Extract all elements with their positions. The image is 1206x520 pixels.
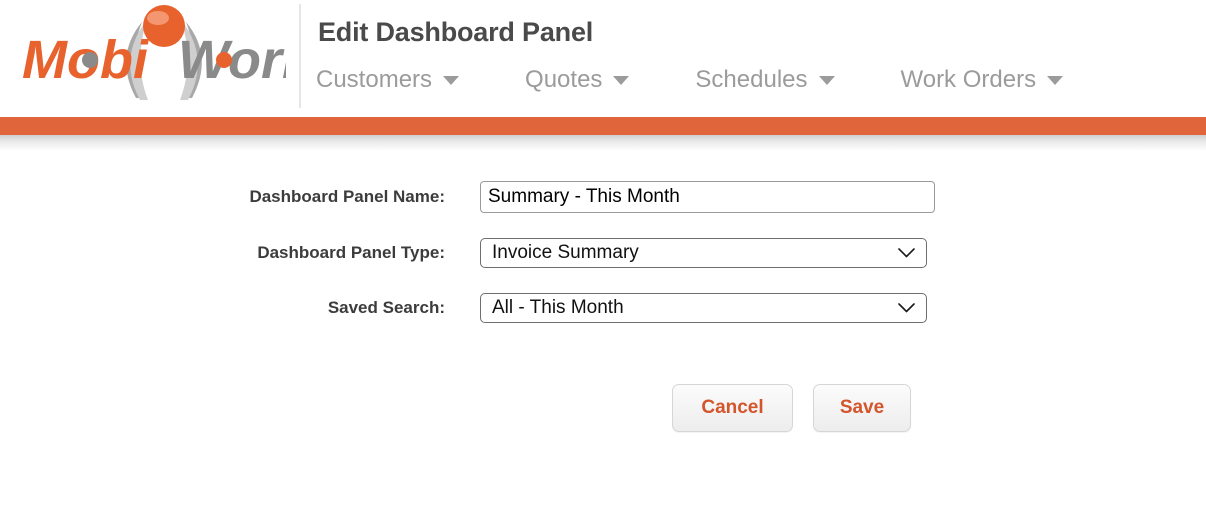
panel-name-label: Dashboard Panel Name: — [0, 187, 480, 207]
form-row-saved-search: Saved Search: All - This Month — [0, 293, 1206, 323]
panel-type-label: Dashboard Panel Type: — [0, 243, 480, 263]
saved-search-value: All - This Month — [481, 297, 624, 319]
chevron-down-icon — [898, 248, 915, 258]
edit-dashboard-panel-page: Mobi Work Edit Dashboard Panel Customers… — [0, 0, 1206, 520]
edit-panel-form: Dashboard Panel Name: Dashboard Panel Ty… — [0, 151, 1206, 432]
chevron-down-icon — [819, 76, 835, 85]
nav-item-label: Schedules — [695, 66, 807, 94]
page-title: Edit Dashboard Panel — [318, 17, 593, 48]
nav-item-quotes[interactable]: Quotes — [525, 66, 629, 94]
panel-type-field-wrap: Invoice Summary — [480, 238, 927, 268]
nav-item-schedules[interactable]: Schedules — [695, 66, 834, 94]
chevron-down-icon — [1047, 76, 1063, 85]
nav-item-label: Work Orders — [901, 66, 1037, 94]
panel-type-value: Invoice Summary — [481, 242, 639, 264]
accent-bar-shadow — [0, 135, 1206, 151]
save-button[interactable]: Save — [813, 384, 911, 432]
panel-name-input[interactable] — [480, 181, 935, 213]
saved-search-select[interactable]: All - This Month — [480, 293, 927, 323]
nav-item-label: Customers — [316, 66, 432, 94]
nav-item-label: Quotes — [525, 66, 602, 94]
panel-name-field-wrap — [480, 181, 935, 213]
main-navigation: Customers Quotes Schedules Work Orders — [316, 66, 1063, 94]
panel-type-select[interactable]: Invoice Summary — [480, 238, 927, 268]
app-header: Mobi Work Edit Dashboard Panel Customers… — [0, 0, 1206, 117]
nav-item-work-orders[interactable]: Work Orders — [901, 66, 1064, 94]
nav-item-customers[interactable]: Customers — [316, 66, 459, 94]
saved-search-field-wrap: All - This Month — [480, 293, 927, 323]
form-actions: Cancel Save — [0, 384, 1206, 432]
chevron-down-icon — [898, 303, 915, 313]
cancel-button[interactable]: Cancel — [672, 384, 793, 432]
accent-bar — [0, 117, 1206, 135]
chevron-down-icon — [443, 76, 459, 85]
mobiwork-logo[interactable]: Mobi Work — [14, 2, 286, 106]
form-row-panel-name: Dashboard Panel Name: — [0, 181, 1206, 213]
saved-search-label: Saved Search: — [0, 298, 480, 318]
chevron-down-icon — [613, 76, 629, 85]
form-row-panel-type: Dashboard Panel Type: Invoice Summary — [0, 238, 1206, 268]
header-divider — [299, 4, 301, 108]
